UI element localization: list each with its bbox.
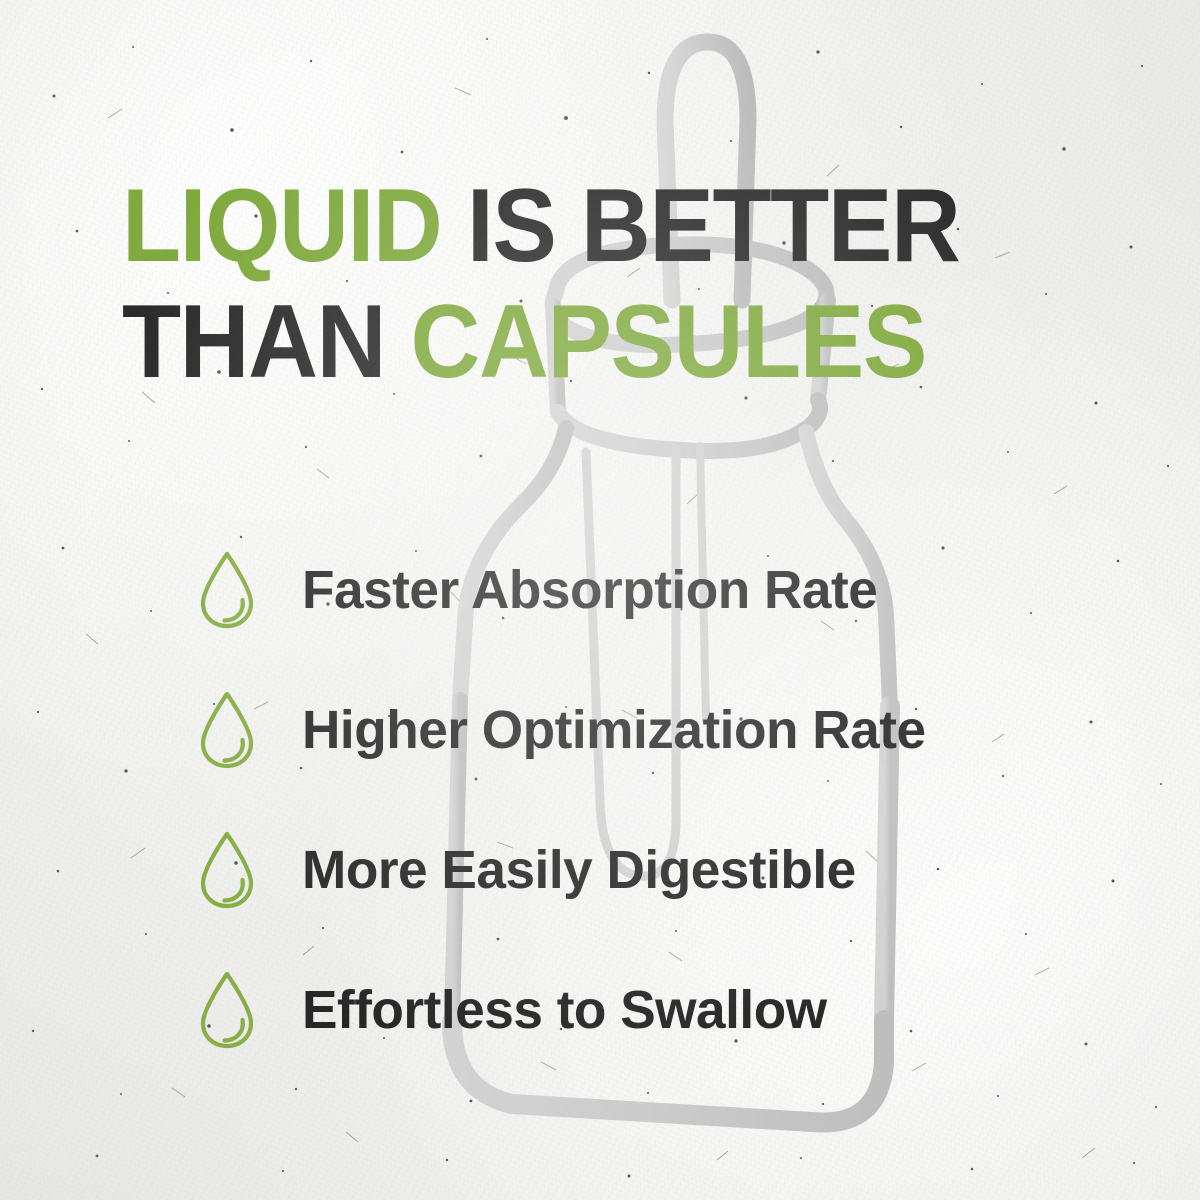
paper-vignette <box>0 0 1200 1200</box>
infographic-canvas: LIQUID IS BETTER THAN CAPSULES Faster Ab… <box>0 0 1200 1200</box>
